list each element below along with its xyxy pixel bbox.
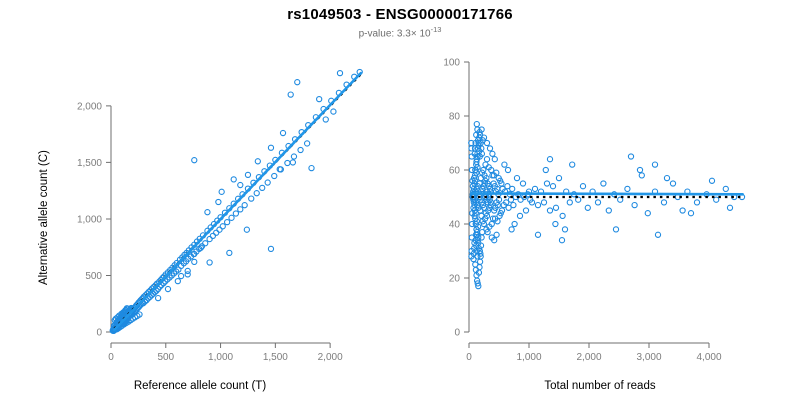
x-tick-label: 2,000 <box>576 352 601 363</box>
figure-container: rs1049503 - ENSG00000171766 p-value: 3.3… <box>0 0 800 400</box>
data-point <box>478 259 483 264</box>
data-point <box>723 186 728 191</box>
data-point <box>553 205 558 210</box>
data-point <box>156 295 161 300</box>
data-point <box>285 160 290 165</box>
data-point <box>510 186 515 191</box>
data-point <box>260 185 265 190</box>
data-point <box>535 232 540 237</box>
data-point <box>559 238 564 243</box>
data-point <box>639 173 644 178</box>
y-tick-label: 60 <box>449 166 461 177</box>
data-point <box>494 232 499 237</box>
data-point <box>291 154 296 159</box>
data-point <box>652 162 657 167</box>
data-point <box>487 146 492 151</box>
x-axis-spine <box>111 343 330 348</box>
data-point <box>175 279 180 284</box>
data-point <box>502 162 507 167</box>
data-point <box>543 167 548 172</box>
data-point <box>238 182 243 187</box>
panel-percentage-alternative: 02040608010001,0002,0003,0004,000 Percen… <box>400 0 800 400</box>
data-point <box>532 186 537 191</box>
data-point <box>541 200 546 205</box>
data-point <box>179 273 184 278</box>
data-point <box>309 165 314 170</box>
data-point <box>550 184 555 189</box>
data-point <box>225 220 230 225</box>
data-point <box>632 203 637 208</box>
y-tick-label: 1,000 <box>77 214 102 225</box>
x-tick-label: 0 <box>466 352 472 363</box>
data-point <box>625 186 630 191</box>
data-point <box>192 158 197 163</box>
y-tick-label: 40 <box>449 220 461 231</box>
data-point <box>207 236 212 241</box>
data-point <box>613 227 618 232</box>
data-point <box>249 196 254 201</box>
data-point <box>523 208 528 213</box>
data-point <box>535 203 540 208</box>
data-point <box>474 122 479 127</box>
data-point <box>205 210 210 215</box>
data-point <box>562 227 567 232</box>
data-point <box>544 181 549 186</box>
data-point <box>556 176 561 181</box>
x-axis-title-left: Reference allele count (T) <box>0 380 400 392</box>
data-point <box>645 211 650 216</box>
data-point <box>323 117 328 122</box>
x-axis-title-right: Total number of reads <box>400 380 800 392</box>
data-point <box>490 151 495 156</box>
data-point <box>628 154 633 159</box>
data-point <box>255 159 260 164</box>
data-point <box>580 184 585 189</box>
data-point <box>305 141 310 146</box>
data-point <box>560 213 565 218</box>
data-point <box>553 221 558 226</box>
data-point <box>514 176 519 181</box>
scatter-plot-allele-counts: 05001,0001,5002,00005001,0001,5002,000 <box>0 0 400 400</box>
data-point <box>547 208 552 213</box>
x-tick-label: 1,000 <box>516 352 541 363</box>
data-point <box>547 157 552 162</box>
data-point <box>268 145 273 150</box>
data-point <box>216 199 221 204</box>
data-point <box>570 162 575 167</box>
data-point <box>203 241 208 246</box>
data-point <box>670 181 675 186</box>
data-point <box>655 232 660 237</box>
data-point <box>298 147 303 152</box>
data-point <box>469 235 474 240</box>
data-point <box>709 178 714 183</box>
data-point <box>595 200 600 205</box>
x-tick-label: 1,000 <box>208 352 233 363</box>
data-point <box>290 160 295 165</box>
fit-line <box>471 193 742 194</box>
data-point <box>585 205 590 210</box>
data-point <box>192 259 197 264</box>
data-point <box>165 286 170 291</box>
data-point <box>331 109 336 114</box>
data-point <box>606 208 611 213</box>
x-axis-spine <box>469 343 709 348</box>
data-point <box>229 215 234 220</box>
scatter-plot-percentage-alternative: 02040608010001,0002,0003,0004,000 <box>400 0 800 400</box>
y-tick-label: 500 <box>85 271 102 282</box>
data-point <box>317 97 322 102</box>
data-point <box>254 191 259 196</box>
data-point <box>238 207 243 212</box>
data-point <box>469 167 474 172</box>
data-point <box>505 167 510 172</box>
data-point <box>477 265 482 270</box>
data-point <box>231 177 236 182</box>
data-point <box>492 157 497 162</box>
data-point <box>272 173 277 178</box>
data-point <box>661 200 666 205</box>
x-tick-label: 4,000 <box>696 352 721 363</box>
y-axis-spine <box>106 106 111 332</box>
data-point <box>185 272 190 277</box>
data-point <box>484 157 489 162</box>
data-point <box>210 233 215 238</box>
data-point <box>214 230 219 235</box>
data-point <box>265 180 270 185</box>
x-tick-label: 3,000 <box>636 352 661 363</box>
data-point <box>207 260 212 265</box>
data-point <box>219 189 224 194</box>
data-point <box>479 235 484 240</box>
data-point <box>470 221 475 226</box>
data-point <box>688 211 693 216</box>
data-point <box>637 167 642 172</box>
x-tick-label: 2,000 <box>318 352 343 363</box>
y-tick-label: 2,000 <box>77 101 102 112</box>
data-point <box>198 245 203 250</box>
data-point <box>567 200 572 205</box>
x-tick-label: 0 <box>108 352 114 363</box>
y-tick-label: 0 <box>96 328 102 339</box>
data-point <box>268 246 273 251</box>
data-point <box>233 211 238 216</box>
data-point <box>244 227 249 232</box>
data-point <box>337 71 342 76</box>
data-point <box>680 208 685 213</box>
data-point <box>664 176 669 181</box>
data-point <box>227 250 232 255</box>
data-point <box>509 227 514 232</box>
fit-line <box>114 73 361 330</box>
y-tick-label: 20 <box>449 274 461 285</box>
data-point <box>245 172 250 177</box>
data-point <box>220 224 225 229</box>
y-tick-label: 0 <box>454 328 460 339</box>
data-point <box>601 181 606 186</box>
data-point <box>517 213 522 218</box>
x-tick-label: 500 <box>157 352 174 363</box>
data-point <box>512 221 517 226</box>
data-point <box>295 80 300 85</box>
data-point <box>694 200 699 205</box>
data-point <box>727 205 732 210</box>
data-point <box>511 203 516 208</box>
data-point <box>520 181 525 186</box>
y-tick-label: 100 <box>443 58 460 69</box>
data-point <box>242 203 247 208</box>
data-point <box>280 130 285 135</box>
y-axis-spine <box>464 62 469 332</box>
data-point <box>288 92 293 97</box>
panel-allele-counts: 05001,0001,5002,00005001,0001,5002,000 A… <box>0 0 400 400</box>
y-axis-title-left: Alternative allele count (C) <box>38 150 50 285</box>
y-tick-label: 1,500 <box>77 158 102 169</box>
y-tick-label: 80 <box>449 112 461 123</box>
data-points <box>469 122 745 289</box>
data-point <box>469 146 474 151</box>
x-tick-label: 1,500 <box>263 352 288 363</box>
